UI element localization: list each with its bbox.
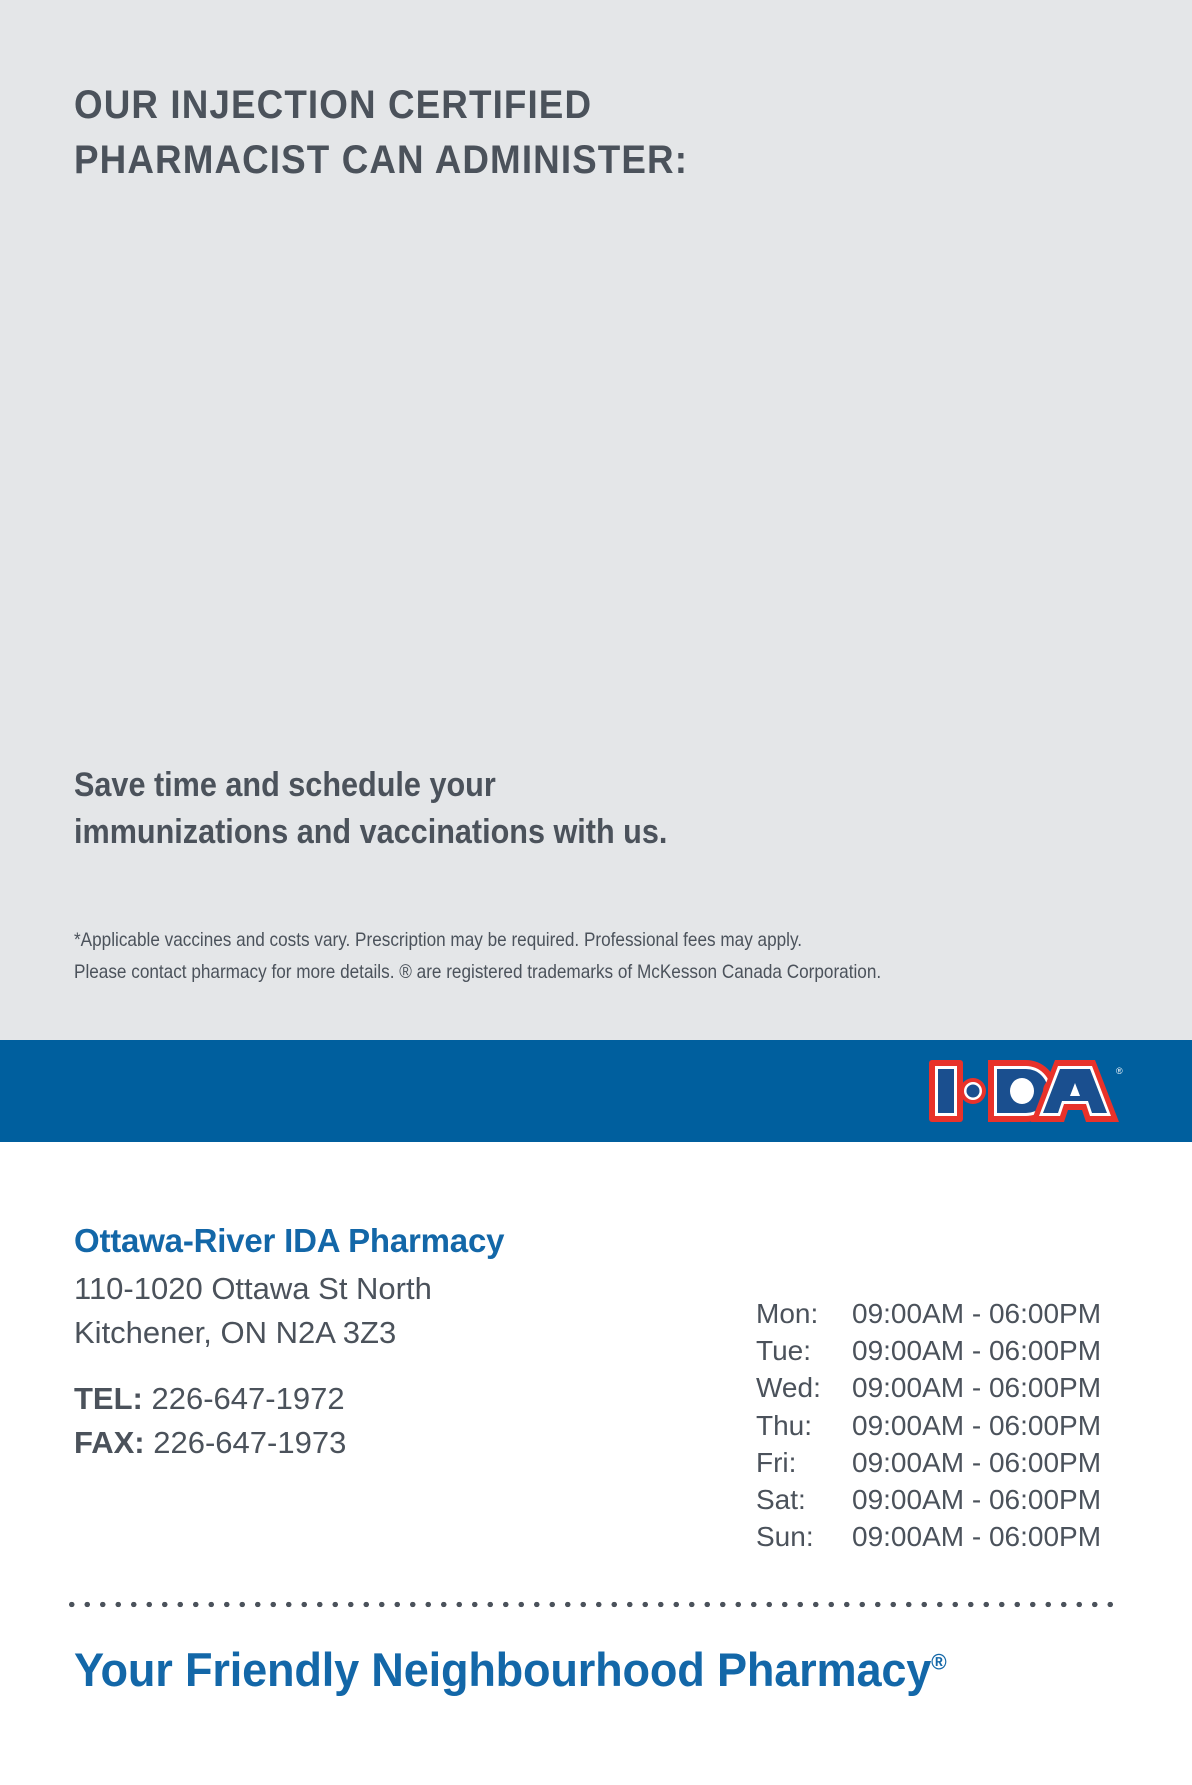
logo-registered-mark: ® bbox=[1116, 1066, 1123, 1076]
store-phone-numbers: TEL: 226-647-1972 FAX: 226-647-1973 bbox=[74, 1377, 346, 1465]
subheading: Save time and schedule your immunization… bbox=[74, 762, 848, 856]
hours-time-value: 09:00AM - 06:00PM bbox=[852, 1332, 1101, 1369]
brand-band: ® bbox=[0, 1040, 1192, 1142]
dotted-divider bbox=[64, 1601, 1122, 1608]
telephone-value[interactable]: 226-647-1972 bbox=[152, 1381, 345, 1416]
hours-day-label: Mon: bbox=[756, 1295, 852, 1332]
hours-day-label: Thu: bbox=[756, 1407, 852, 1444]
fax-label: FAX: bbox=[74, 1425, 145, 1460]
hours-row: Tue: 09:00AM - 06:00PM bbox=[756, 1332, 1101, 1369]
footer-registered-mark: ® bbox=[931, 1649, 946, 1674]
disclaimer-line-2: Please contact pharmacy for more details… bbox=[74, 957, 1007, 989]
disclaimer-text: *Applicable vaccines and costs vary. Pre… bbox=[74, 925, 1007, 988]
hours-day-label: Sat: bbox=[756, 1481, 852, 1518]
hours-day-label: Fri: bbox=[756, 1444, 852, 1481]
hours-row: Sun: 09:00AM - 06:00PM bbox=[756, 1518, 1101, 1555]
hours-day-label: Tue: bbox=[756, 1332, 852, 1369]
hours-time-value: 09:00AM - 06:00PM bbox=[852, 1518, 1101, 1555]
store-contact-section: Ottawa-River IDA Pharmacy 110-1020 Ottaw… bbox=[0, 1142, 1192, 1785]
subheading-line-2: immunizations and vaccinations with us. bbox=[74, 809, 848, 856]
hours-time-value: 09:00AM - 06:00PM bbox=[852, 1295, 1101, 1332]
promo-panel: OUR INJECTION CERTIFIED PHARMACIST CAN A… bbox=[0, 0, 1192, 1040]
hours-day-label: Sun: bbox=[756, 1518, 852, 1555]
fax-value: 226-647-1973 bbox=[153, 1425, 346, 1460]
store-hours-table: Mon: 09:00AM - 06:00PM Tue: 09:00AM - 06… bbox=[756, 1295, 1101, 1556]
hours-row: Fri: 09:00AM - 06:00PM bbox=[756, 1444, 1101, 1481]
hours-time-value: 09:00AM - 06:00PM bbox=[852, 1407, 1101, 1444]
page-title: OUR INJECTION CERTIFIED PHARMACIST CAN A… bbox=[74, 78, 902, 188]
footer-tagline-text: Your Friendly Neighbourhood Pharmacy bbox=[74, 1643, 931, 1696]
store-address: 110-1020 Ottawa St North Kitchener, ON N… bbox=[74, 1267, 432, 1355]
footer-tagline: Your Friendly Neighbourhood Pharmacy® bbox=[74, 1642, 947, 1697]
hours-row: Wed: 09:00AM - 06:00PM bbox=[756, 1369, 1101, 1406]
disclaimer-line-1: *Applicable vaccines and costs vary. Pre… bbox=[74, 925, 1007, 957]
hours-time-value: 09:00AM - 06:00PM bbox=[852, 1369, 1101, 1406]
store-name: Ottawa-River IDA Pharmacy bbox=[74, 1222, 504, 1260]
hours-time-value: 09:00AM - 06:00PM bbox=[852, 1444, 1101, 1481]
page-title-line-2: PHARMACIST CAN ADMINISTER: bbox=[74, 133, 902, 188]
fax-row: FAX: 226-647-1973 bbox=[74, 1421, 346, 1465]
hours-row: Mon: 09:00AM - 06:00PM bbox=[756, 1295, 1101, 1332]
hours-row: Thu: 09:00AM - 06:00PM bbox=[756, 1407, 1101, 1444]
page-title-line-1: OUR INJECTION CERTIFIED bbox=[74, 78, 902, 133]
address-line-2: Kitchener, ON N2A 3Z3 bbox=[74, 1311, 432, 1355]
hours-time-value: 09:00AM - 06:00PM bbox=[852, 1481, 1101, 1518]
telephone-row: TEL: 226-647-1972 bbox=[74, 1377, 346, 1421]
address-line-1: 110-1020 Ottawa St North bbox=[74, 1267, 432, 1311]
ida-logo: ® bbox=[926, 1054, 1126, 1128]
telephone-label: TEL: bbox=[74, 1381, 143, 1416]
hours-row: Sat: 09:00AM - 06:00PM bbox=[756, 1481, 1101, 1518]
hours-day-label: Wed: bbox=[756, 1369, 852, 1406]
subheading-line-1: Save time and schedule your bbox=[74, 762, 848, 809]
